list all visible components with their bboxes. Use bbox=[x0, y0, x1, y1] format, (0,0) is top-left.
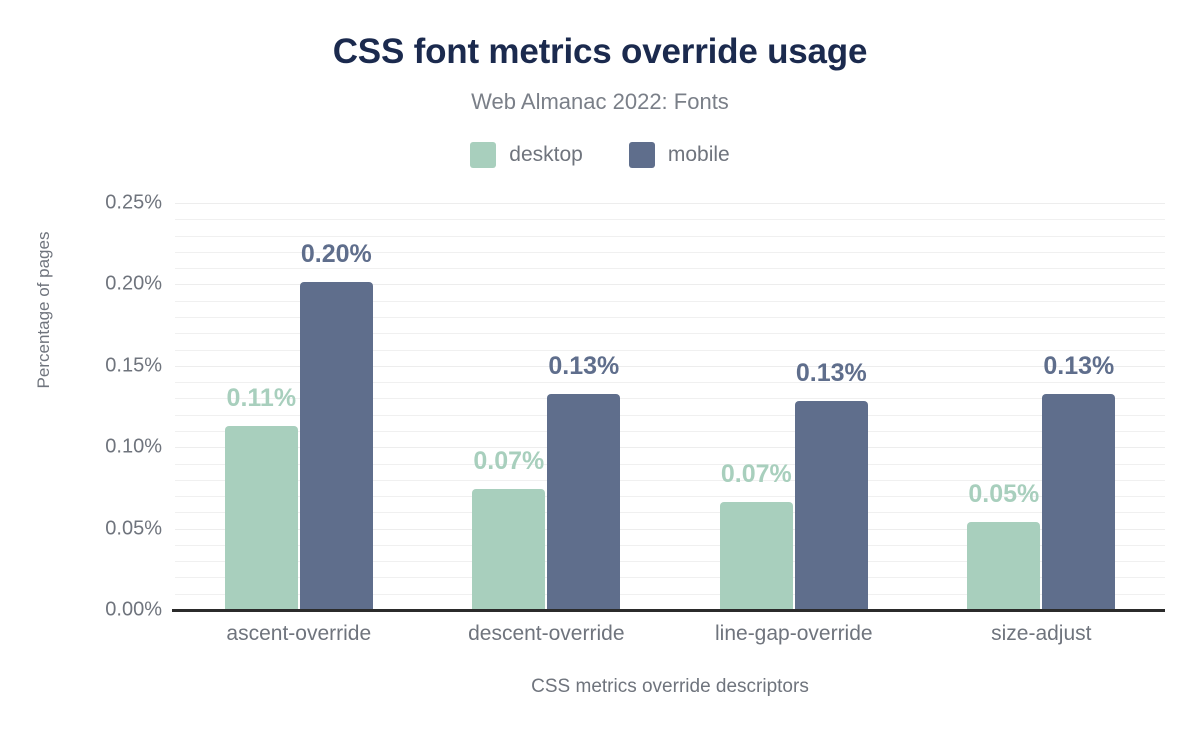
bar-label-desktop-line-gap-override: 0.07% bbox=[721, 460, 792, 489]
legend-swatch-icon bbox=[629, 142, 655, 168]
bar-label-mobile-ascent-override: 0.20% bbox=[301, 240, 372, 269]
y-tick-label: 0.05% bbox=[0, 517, 162, 540]
x-axis-baseline bbox=[172, 609, 1165, 612]
bar-label-desktop-ascent-override: 0.11% bbox=[227, 384, 297, 413]
x-axis-title: CSS metrics override descriptors bbox=[175, 676, 1165, 698]
bar-mobile-size-adjust[interactable] bbox=[1042, 394, 1115, 610]
x-tick-label-line-gap-override: line-gap-override bbox=[715, 622, 873, 646]
y-axis-title: Percentage of pages bbox=[34, 190, 54, 430]
legend-item-mobile[interactable]: mobile bbox=[629, 142, 730, 168]
legend-label: desktop bbox=[509, 143, 583, 167]
chart-title: CSS font metrics override usage bbox=[0, 32, 1200, 72]
bar-label-mobile-descent-override: 0.13% bbox=[548, 352, 619, 381]
y-tick-label: 0.10% bbox=[0, 436, 162, 459]
x-tick-label-descent-override: descent-override bbox=[468, 622, 624, 646]
bar-label-mobile-size-adjust: 0.13% bbox=[1043, 352, 1114, 381]
y-tick-label: 0.25% bbox=[0, 192, 162, 215]
chart-container: CSS font metrics override usage Web Alma… bbox=[0, 0, 1200, 742]
x-tick-label-size-adjust: size-adjust bbox=[991, 622, 1091, 646]
bar-label-desktop-descent-override: 0.07% bbox=[473, 447, 544, 476]
y-tick-label: 0.20% bbox=[0, 273, 162, 296]
x-tick-label-ascent-override: ascent-override bbox=[226, 622, 371, 646]
bar-mobile-ascent-override[interactable] bbox=[300, 282, 373, 610]
chart-subtitle: Web Almanac 2022: Fonts bbox=[0, 89, 1200, 115]
chart-legend: desktopmobile bbox=[0, 142, 1200, 168]
legend-label: mobile bbox=[668, 143, 730, 167]
gridline-minor bbox=[175, 236, 1165, 237]
legend-swatch-icon bbox=[470, 142, 496, 168]
y-tick-label: 0.15% bbox=[0, 354, 162, 377]
bar-label-mobile-line-gap-override: 0.13% bbox=[796, 359, 867, 388]
bar-mobile-descent-override[interactable] bbox=[547, 394, 620, 610]
y-tick-label: 0.00% bbox=[0, 599, 162, 622]
gridline-major bbox=[175, 203, 1165, 204]
bar-desktop-descent-override[interactable] bbox=[472, 489, 545, 610]
bar-desktop-ascent-override[interactable] bbox=[225, 426, 298, 610]
bar-desktop-size-adjust[interactable] bbox=[967, 522, 1040, 610]
bar-desktop-line-gap-override[interactable] bbox=[720, 502, 793, 610]
bar-label-desktop-size-adjust: 0.05% bbox=[968, 480, 1039, 509]
legend-item-desktop[interactable]: desktop bbox=[470, 142, 583, 168]
bar-mobile-line-gap-override[interactable] bbox=[795, 401, 868, 610]
gridline-minor bbox=[175, 219, 1165, 220]
